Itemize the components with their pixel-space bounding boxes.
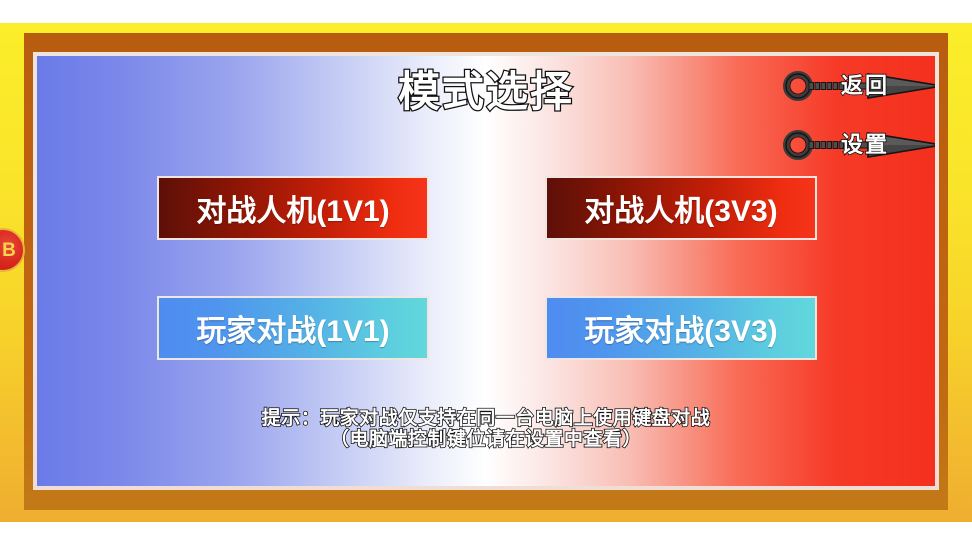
mode-button-label: 玩家对战(3V3) <box>584 306 777 350</box>
mode-button-label: 玩家对战(1V1) <box>196 306 389 350</box>
mode-button-ai-3v3[interactable]: 对战人机(3V3) <box>545 176 817 240</box>
user-badge-icon: B <box>1 239 17 263</box>
back-button-label: 返回 <box>830 68 900 104</box>
mode-button-label: 对战人机(1V1) <box>196 186 389 230</box>
game-screen: 模式选择 返回 <box>0 0 972 546</box>
settings-button[interactable]: 设置 <box>782 127 935 163</box>
hint-line-secondary: （电脑端控制键位请在设置中查看） <box>37 429 935 451</box>
mode-select-panel: 模式选择 返回 <box>37 56 935 486</box>
mode-button-ai-1v1[interactable]: 对战人机(1V1) <box>157 176 429 240</box>
hint-text-block: 提示：玩家对战仅支持在同一台电脑上使用键盘对战 （电脑端控制键位请在设置中查看） <box>37 409 935 451</box>
mode-button-pvp-3v3[interactable]: 玩家对战(3V3) <box>545 296 817 360</box>
mode-button-pvp-1v1[interactable]: 玩家对战(1V1) <box>157 296 429 360</box>
hint-line-primary: 提示：玩家对战仅支持在同一台电脑上使用键盘对战 <box>37 409 935 428</box>
mode-button-label: 对战人机(3V3) <box>584 186 777 230</box>
settings-button-label: 设置 <box>830 127 900 163</box>
back-button[interactable]: 返回 <box>782 68 935 104</box>
